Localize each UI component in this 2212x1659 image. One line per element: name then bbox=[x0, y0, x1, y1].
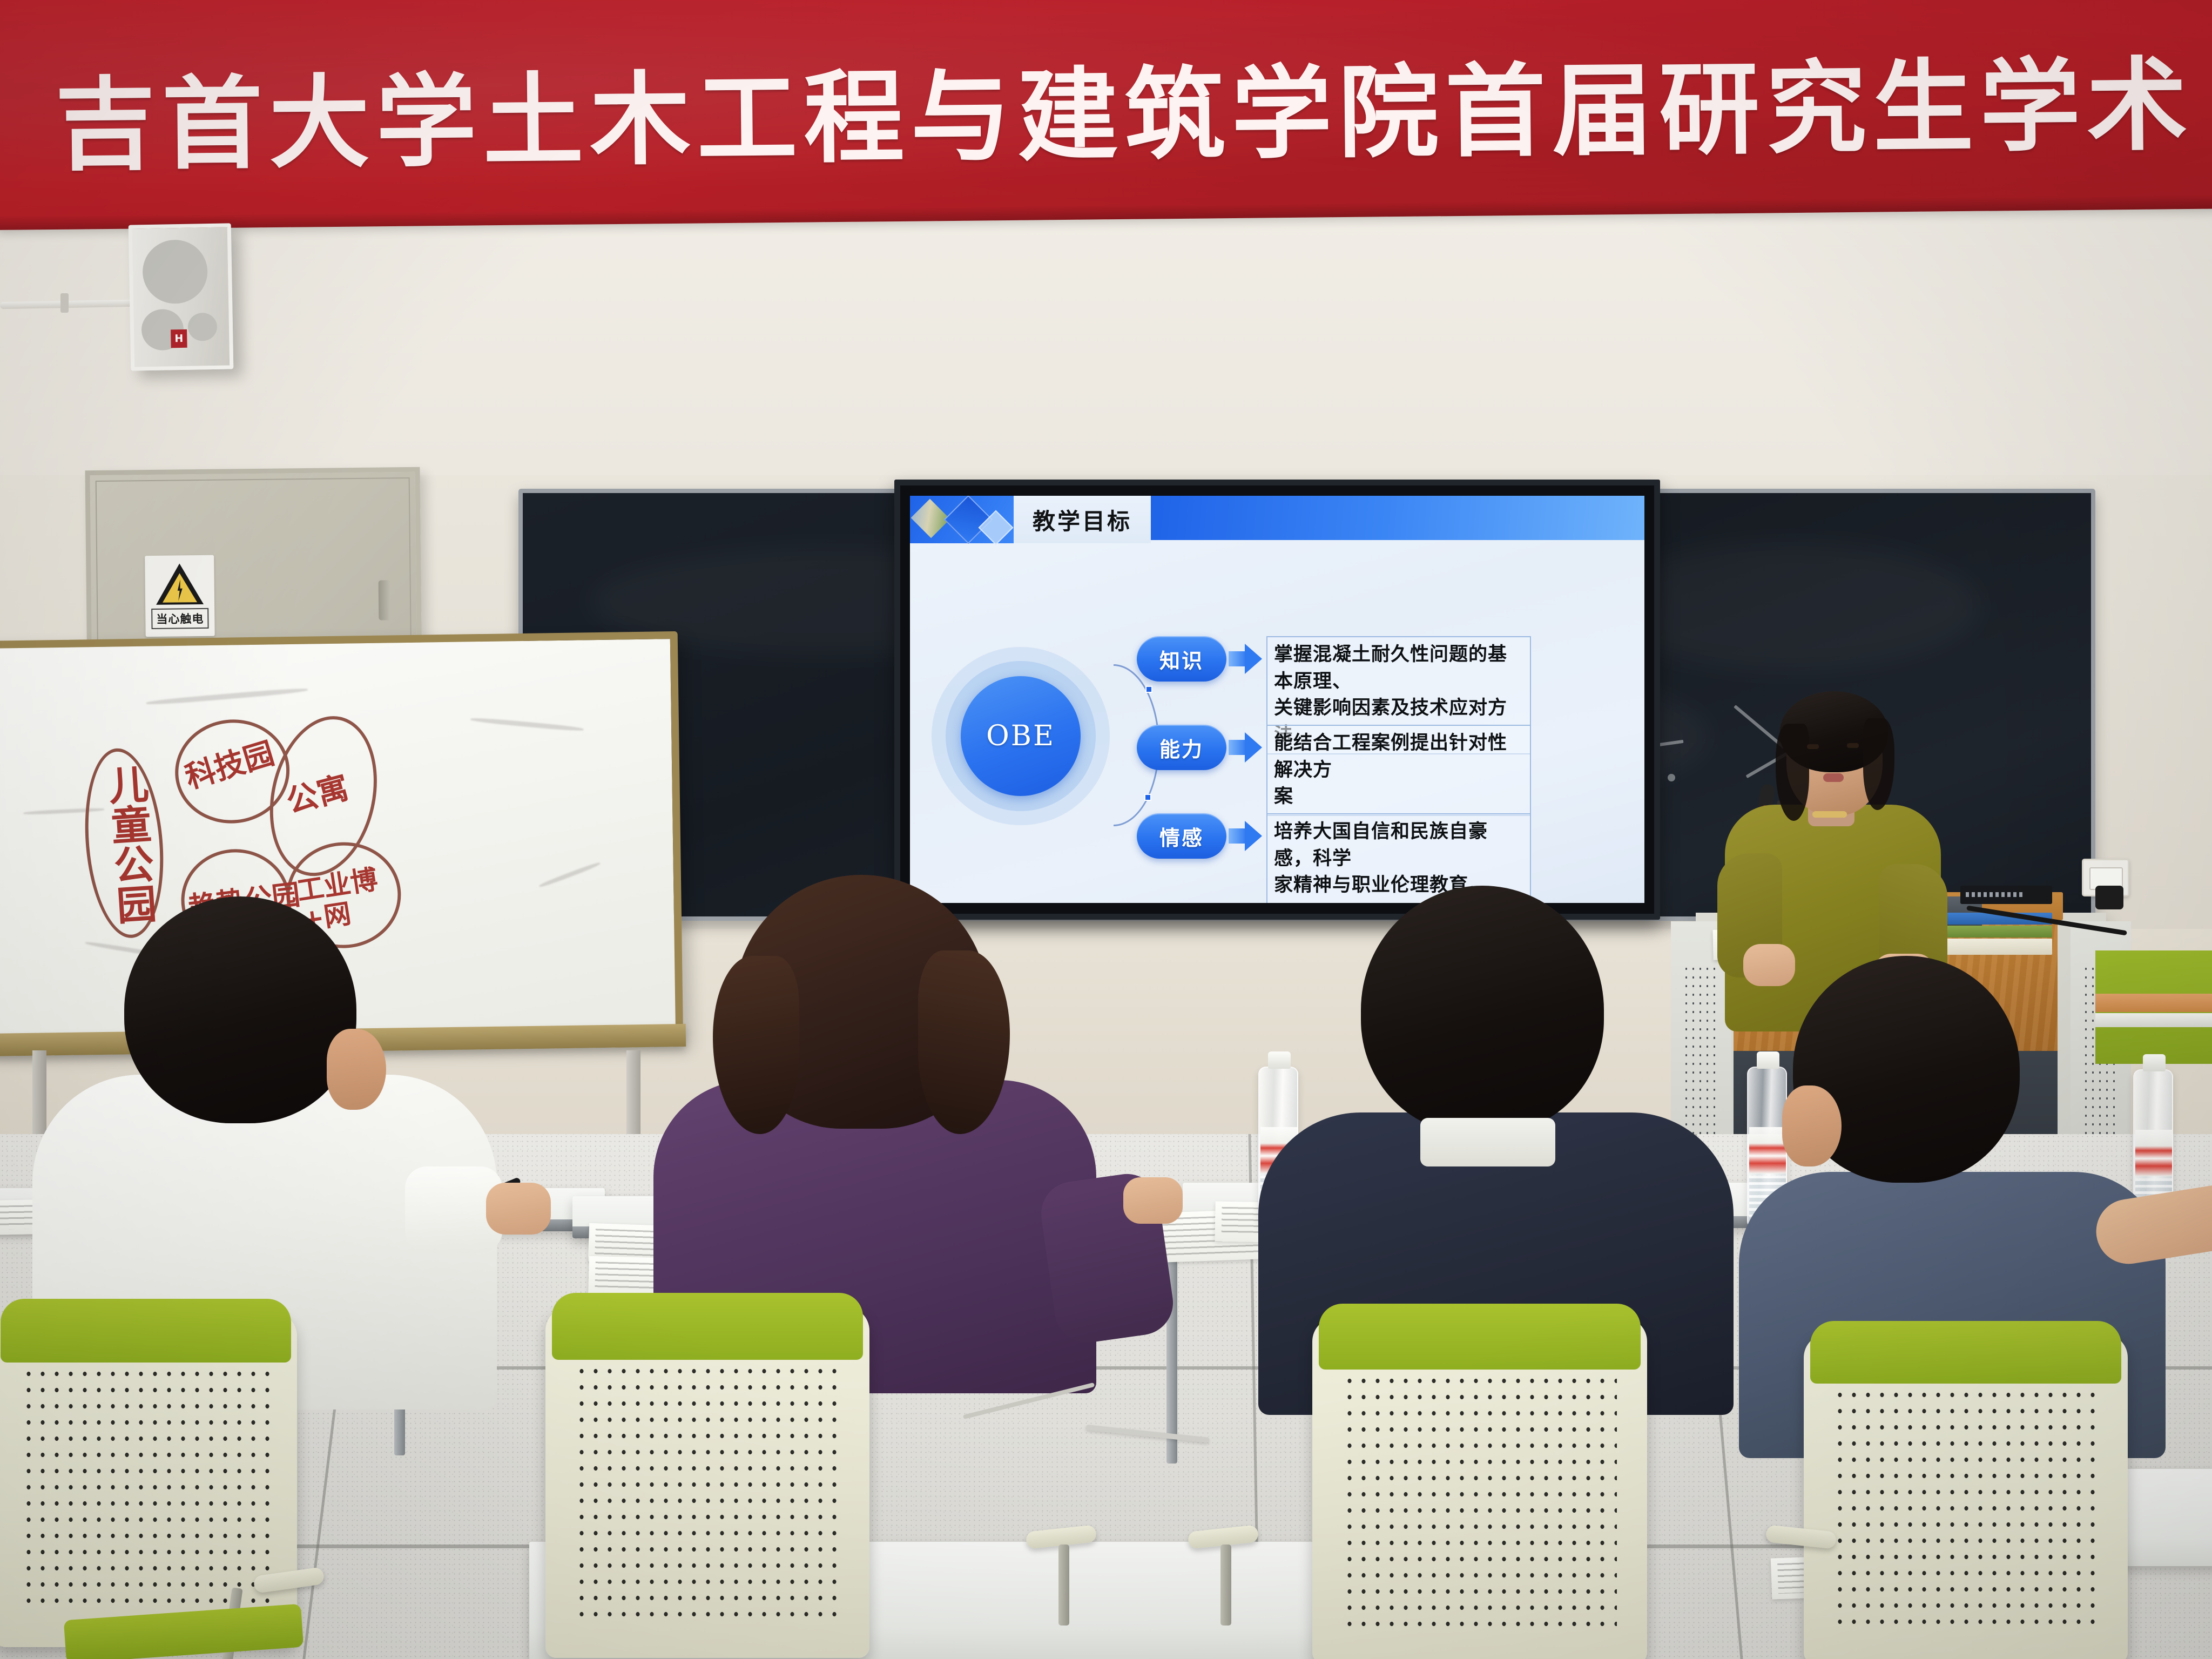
attendee1-head bbox=[124, 896, 356, 1123]
obe-diagram: OBE bbox=[932, 647, 1110, 825]
slide-header: 教学目标 bbox=[910, 496, 1644, 543]
chair-2-headrest bbox=[552, 1293, 863, 1360]
slide-title-plate: 教学目标 bbox=[1014, 496, 1151, 543]
conduit-clip bbox=[60, 293, 69, 313]
slide-title: 教学目标 bbox=[1033, 503, 1132, 536]
chair-1-headrest bbox=[1, 1299, 291, 1363]
banner-title: 吉首大学土木工程与建筑学院首届研究生学术 bbox=[55, 23, 2194, 190]
wall-speaker: H bbox=[129, 223, 234, 370]
chair-4-headrest bbox=[1810, 1321, 2121, 1384]
speaker-brand-badge: H bbox=[171, 329, 187, 348]
lightning-bolt-icon bbox=[177, 579, 184, 601]
event-banner: 吉首大学土木工程与建筑学院首届研究生学术 bbox=[0, 0, 2212, 230]
slide-canvas: 教学目标 OBE 知识 掌握混凝土耐久性问题的基本原理、 关键影响因素及技术 bbox=[910, 496, 1644, 903]
electrical-warning-sign: 当心触电 bbox=[145, 555, 215, 637]
projection-screen: 教学目标 OBE 知识 掌握混凝土耐久性问题的基本原理、 关键影响因素及技术 bbox=[894, 480, 1660, 920]
classroom-scene: 吉首大学土木工程与建筑学院首届研究生学术 H 当心触电 〜～ bbox=[0, 0, 2212, 1659]
chair-2-perforation bbox=[575, 1363, 840, 1623]
chair-4[interactable] bbox=[1804, 1334, 2128, 1659]
lectern-keypad[interactable] bbox=[1960, 886, 2052, 904]
goal-pill-affect: 情感 bbox=[1137, 813, 1226, 859]
warning-sign-label: 当心触电 bbox=[151, 608, 208, 629]
goal-text-box-ability: 能结合工程案例提出针对性解决方 案 bbox=[1266, 725, 1531, 816]
arrow-right-icon-3 bbox=[1226, 813, 1266, 859]
attendee1-ear-neck bbox=[327, 1029, 386, 1110]
warning-triangle-icon bbox=[156, 563, 204, 604]
speaker-cone-large bbox=[142, 239, 208, 304]
slide-header-left-block bbox=[910, 496, 1023, 543]
attendee1-hand bbox=[486, 1183, 551, 1235]
presenter-eye-left bbox=[1807, 744, 1819, 749]
attendee2-hand bbox=[1123, 1177, 1183, 1224]
chair-2-post bbox=[1058, 1545, 1069, 1626]
chair-3-perforation bbox=[1343, 1373, 1617, 1629]
goal-text-ability: 能结合工程案例提出针对性解决方 案 bbox=[1274, 730, 1523, 811]
chair-2-post-b bbox=[1220, 1545, 1231, 1626]
presenter-eye-right bbox=[1847, 743, 1859, 748]
chair-3-headrest bbox=[1319, 1304, 1640, 1370]
chair-1[interactable] bbox=[0, 1312, 297, 1647]
power-plug bbox=[2095, 886, 2123, 909]
attendee4-ear bbox=[1782, 1085, 1842, 1166]
presenter-necklace bbox=[1812, 811, 1847, 818]
chair-1-back bbox=[0, 1312, 297, 1647]
chair-3[interactable] bbox=[1312, 1318, 1647, 1659]
goal-row-ability: 能力 能结合工程案例提出针对性解决方 案 bbox=[1137, 725, 1531, 816]
attendee3-collar bbox=[1420, 1118, 1555, 1166]
chair-4-perforation bbox=[1833, 1387, 2099, 1630]
attendee3-head bbox=[1361, 886, 1604, 1134]
presenter-hair-side-right bbox=[1863, 718, 1894, 810]
cabinet-handle[interactable] bbox=[379, 580, 391, 620]
goal-pill-ability: 能力 bbox=[1137, 725, 1226, 770]
arrow-right-icon-1 bbox=[1226, 636, 1266, 682]
chair-2[interactable] bbox=[545, 1307, 869, 1658]
goal-pill-knowledge: 知识 bbox=[1137, 636, 1226, 682]
presenter bbox=[1717, 691, 1944, 994]
obe-center-label: OBE bbox=[961, 676, 1081, 796]
chair-2-back bbox=[545, 1307, 869, 1658]
chair-1-perforation bbox=[22, 1366, 269, 1614]
speaker-cone-small bbox=[188, 313, 218, 341]
arrow-right-icon-2 bbox=[1226, 725, 1266, 770]
slide-header-right-bar bbox=[1151, 496, 1644, 540]
presenter-mouth bbox=[1823, 773, 1844, 782]
